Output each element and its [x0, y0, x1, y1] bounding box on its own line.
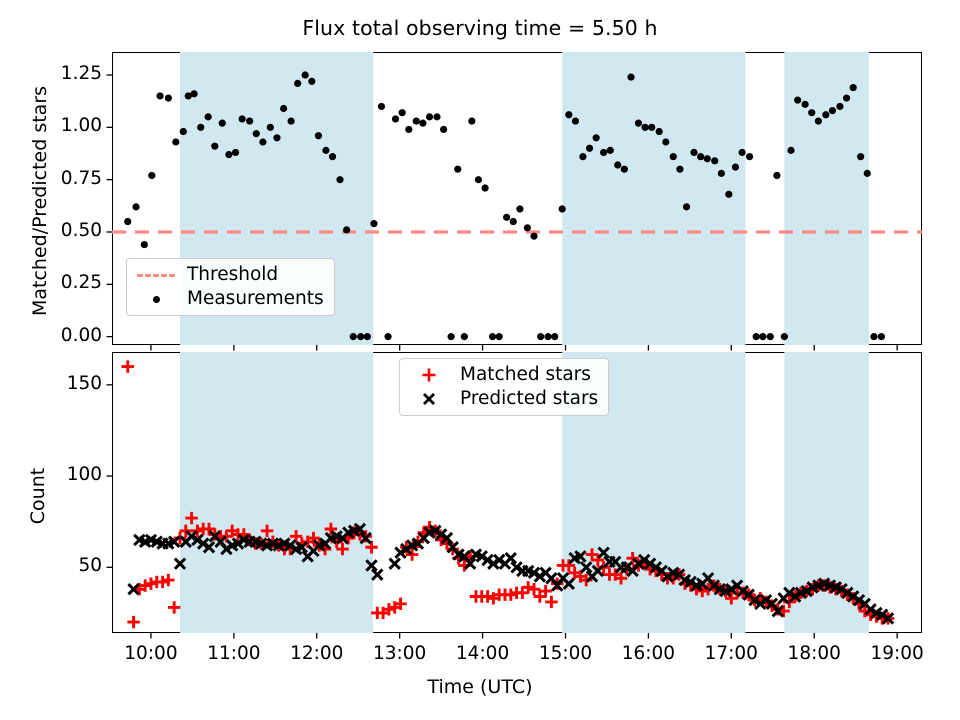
bottom-ytick-label: 100: [20, 464, 102, 485]
figure-root: Flux total observing time = 5.50 h Match…: [0, 0, 960, 720]
legend-item-predicted-stars: Predicted stars: [408, 389, 598, 409]
cross-marker-icon: [408, 389, 450, 409]
xtick-label: 19:00: [847, 643, 947, 664]
legend-label-predicted-stars: Predicted stars: [460, 389, 598, 409]
bottom-panel-legend: Matched stars Predicted stars: [399, 358, 609, 416]
plus-marker-icon: [408, 365, 450, 385]
bottom-ytick-label: 150: [20, 373, 102, 394]
legend-item-matched-stars: Matched stars: [408, 365, 598, 385]
bottom-ytick-label: 50: [20, 555, 102, 576]
xaxis-label: Time (UTC): [0, 676, 960, 698]
legend-label-matched-stars: Matched stars: [460, 365, 591, 385]
shaded-band-0: [180, 352, 373, 633]
